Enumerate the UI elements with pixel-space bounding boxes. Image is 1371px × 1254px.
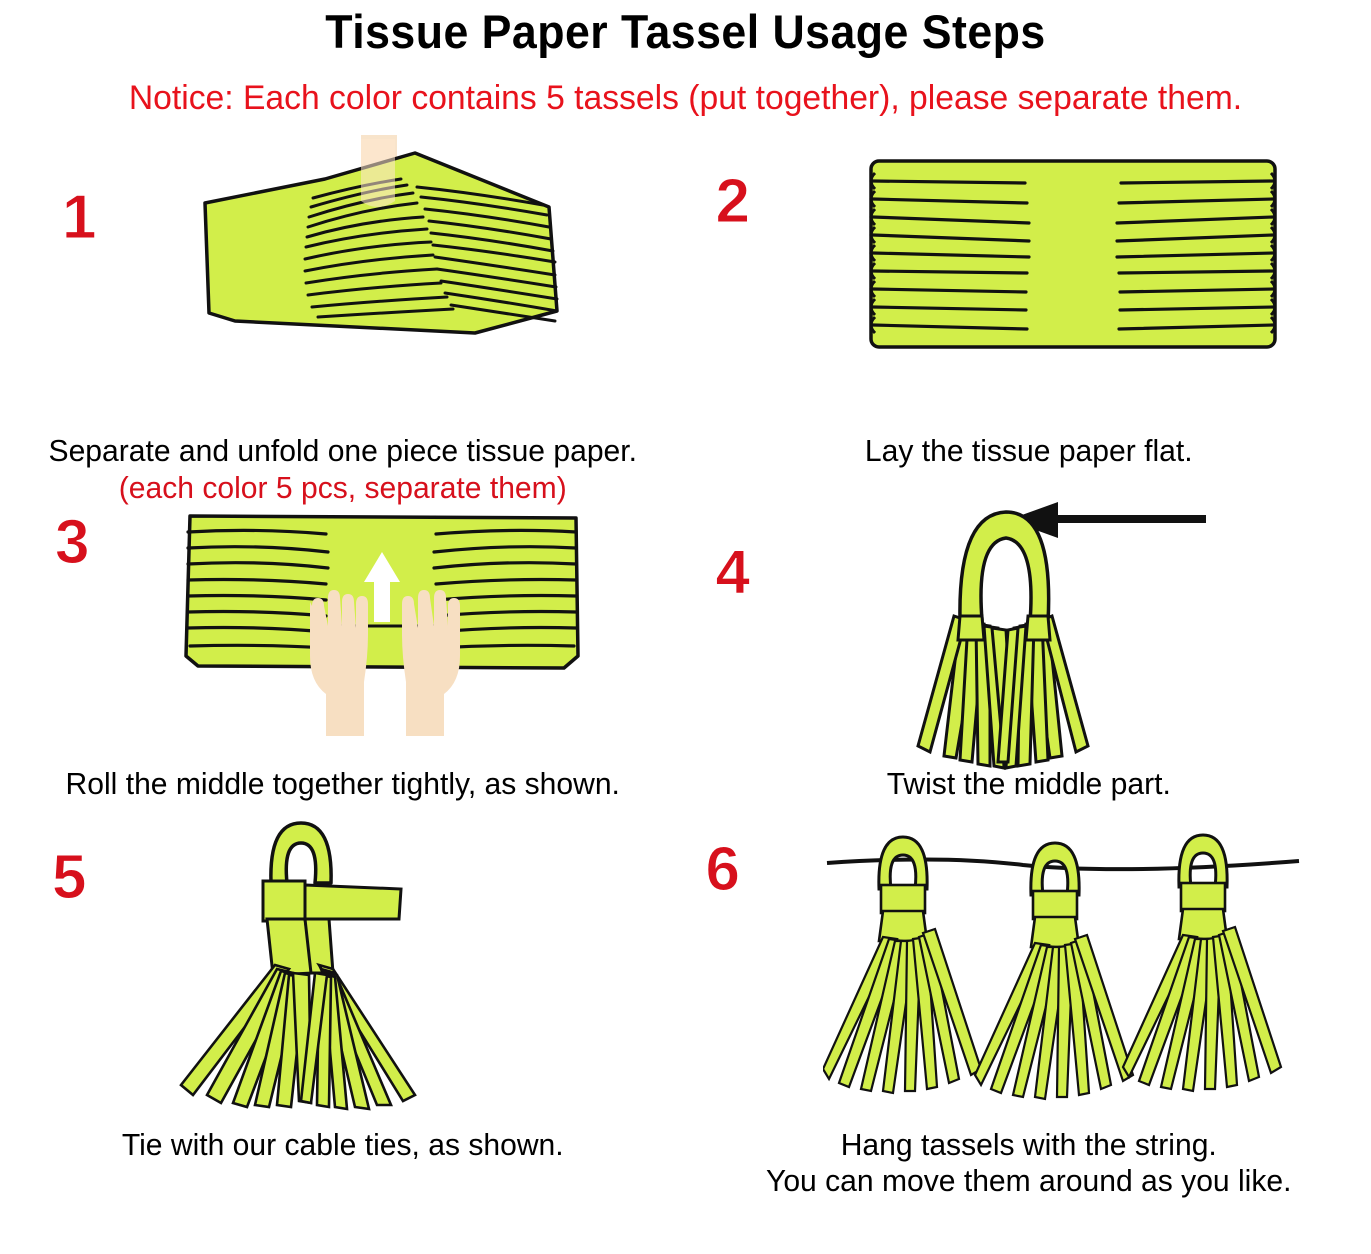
step-5-caption: Tie with our cable ties, as shown.: [10, 1127, 675, 1164]
step-cell-3: 3: [0, 502, 686, 803]
steps-row-1: 1: [0, 129, 1371, 506]
step-number-3: 3: [55, 512, 89, 574]
hands-rolling-illustration: [168, 506, 598, 756]
step-4-caption: Twist the middle part.: [696, 766, 1361, 803]
step-1-caption-sub: (each color 5 pcs, separate them): [10, 470, 675, 507]
step-3-caption: Roll the middle together tightly, as sho…: [10, 766, 675, 803]
step-number-6: 6: [706, 839, 740, 901]
crumpled-tissue-illustration: [165, 135, 595, 415]
tassel-with-cable-tie-illustration: [163, 813, 563, 1113]
step-6-caption-main: Hang tassels with the string.: [840, 1127, 1216, 1162]
step-cell-1: 1: [0, 129, 686, 506]
right-hand: [402, 590, 460, 736]
step-1-caption-main: Separate and unfold one piece tissue pap…: [49, 433, 637, 468]
hanging-tassel-1: [823, 837, 981, 1093]
step-number-5: 5: [52, 847, 86, 909]
flat-fringed-tissue-illustration: [863, 153, 1283, 383]
step-cell-4: 4: [686, 502, 1371, 803]
step-number-4: 4: [716, 542, 750, 604]
tassel-instruction-poster: Tissue Paper Tassel Usage Steps Notice: …: [0, 0, 1371, 1254]
step-number-1: 1: [62, 187, 96, 249]
cable-tie-knot: [263, 881, 305, 921]
step-1-caption: Separate and unfold one piece tissue pap…: [10, 433, 675, 506]
steps-row-2: 3: [0, 502, 1371, 803]
step-2-figure: 2: [686, 129, 1371, 429]
step-cell-6: 6: [686, 821, 1371, 1200]
step-6-caption-sub: You can move them around as you like.: [696, 1163, 1361, 1200]
step-3-figure: 3: [0, 502, 686, 772]
step-4-caption-main: Twist the middle part.: [886, 766, 1170, 801]
hanging-tassel-2: [975, 843, 1133, 1099]
step-4-figure: 4: [686, 502, 1371, 772]
step-cell-2: 2: [686, 129, 1371, 506]
folded-tassel-illustration: [848, 490, 1268, 780]
step-2-caption: Lay the tissue paper flat.: [696, 433, 1361, 470]
steps-grid: 1: [0, 129, 1371, 1200]
step-6-caption: Hang tassels with the string. You can mo…: [696, 1127, 1361, 1200]
step-1-figure: 1: [0, 129, 686, 429]
steps-row-3: 5: [0, 821, 1371, 1200]
cable-tie-tail: [305, 885, 401, 919]
hanging-tassel-3: [1123, 835, 1281, 1091]
notice-text: Notice: Each color contains 5 tassels (p…: [7, 55, 1364, 115]
step-2-caption-main: Lay the tissue paper flat.: [864, 433, 1192, 468]
step-5-figure: 5: [0, 821, 686, 1121]
step-3-caption-main: Roll the middle together tightly, as sho…: [66, 766, 620, 801]
step-5-caption-main: Tie with our cable ties, as shown.: [122, 1127, 564, 1162]
step-number-2: 2: [716, 171, 750, 233]
hanging-tassels-illustration: [823, 829, 1303, 1119]
step-6-figure: 6: [686, 821, 1371, 1121]
step-cell-5: 5: [0, 821, 686, 1200]
page-title: Tissue Paper Tassel Usage Steps: [34, 0, 1336, 55]
left-hand: [310, 590, 368, 736]
